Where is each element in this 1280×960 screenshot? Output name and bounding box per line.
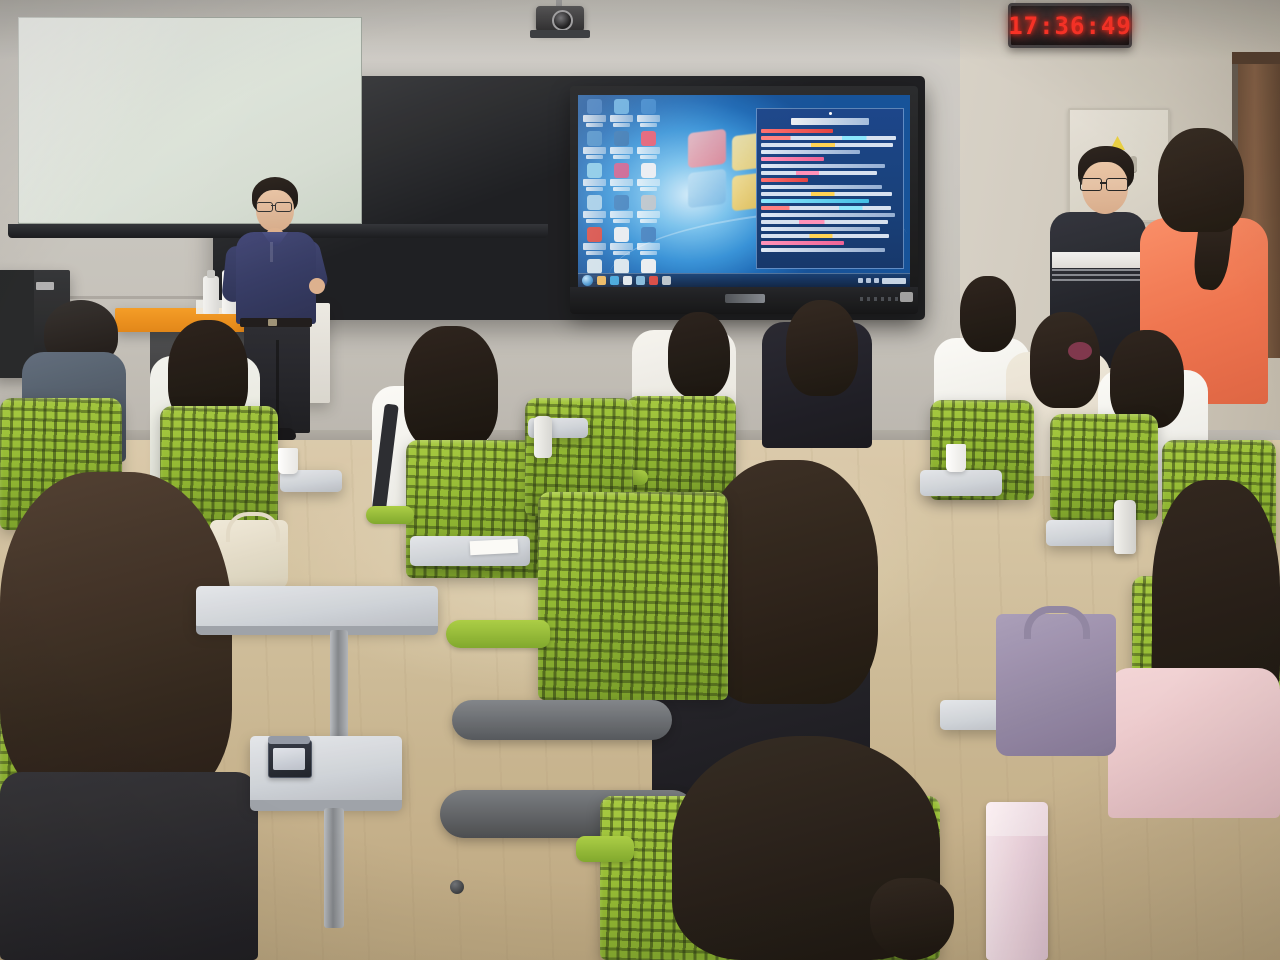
icon-label-line2 <box>586 251 603 255</box>
chat-icon[interactable] <box>636 163 661 193</box>
chat-icon-glyph <box>641 163 656 178</box>
attendee-right-pink <box>1108 668 1280 818</box>
icon-label-line2 <box>640 123 657 127</box>
taskbar-mail-icon[interactable] <box>636 276 645 285</box>
document-icon-glyph <box>587 131 602 146</box>
tray-volume-icon[interactable] <box>866 278 871 283</box>
camera-lens-icon <box>552 10 573 31</box>
editor-icon[interactable] <box>636 227 661 257</box>
cloud-icon-glyph <box>614 99 629 114</box>
eyeglasses-icon <box>256 202 294 210</box>
attendee-hair <box>668 312 730 398</box>
note-icon-glyph <box>641 259 656 274</box>
tray-network-icon[interactable] <box>858 278 863 283</box>
icon-label-line2 <box>613 219 630 223</box>
paper-cup <box>278 448 298 474</box>
attendee-hair <box>1030 312 1100 408</box>
taskbar-player-icon[interactable] <box>623 276 632 285</box>
icon-label-line2 <box>640 187 657 191</box>
display-screen[interactable] <box>578 95 910 287</box>
display-power-button[interactable] <box>900 292 913 302</box>
ponytail <box>870 878 954 960</box>
desk-support-post <box>330 630 348 748</box>
editor-icon-glyph <box>641 227 656 242</box>
led-wall-clock: 17:36:49 <box>1008 3 1132 48</box>
handbag-handle <box>226 512 280 542</box>
badge-card <box>273 748 305 770</box>
display-brand-logo <box>725 294 765 303</box>
icon-label <box>637 211 660 218</box>
music-icon-glyph <box>641 131 656 146</box>
icon-label <box>610 211 633 218</box>
attendee-foreground-left-top <box>0 772 258 960</box>
tablet-desk[interactable] <box>196 586 438 630</box>
network-icon[interactable] <box>582 163 607 193</box>
browser-icon[interactable] <box>582 99 607 129</box>
icon-label <box>637 147 660 154</box>
antivirus-icon-glyph <box>614 131 629 146</box>
icon-label <box>637 115 660 122</box>
folder-icon-glyph <box>587 195 602 210</box>
icon-label-line2 <box>586 155 603 159</box>
sweatshirt-pattern <box>1052 268 1142 281</box>
recycle-icon-glyph <box>614 259 629 274</box>
icon-label <box>610 179 633 186</box>
icon-label <box>610 147 633 154</box>
icon-label <box>637 243 660 250</box>
desktop-icon-grid[interactable] <box>582 99 662 287</box>
thermos-cap <box>986 802 1048 836</box>
paper-cup <box>946 444 966 472</box>
hair-scrunchie <box>1068 342 1092 360</box>
icon-label-line2 <box>586 219 603 223</box>
folder-icon[interactable] <box>582 195 607 225</box>
cloudsync-icon-glyph <box>587 259 602 274</box>
sweatshirt-white-stripe <box>1052 252 1142 268</box>
tray-clock[interactable] <box>882 278 906 284</box>
belt-buckle <box>268 319 277 326</box>
clock-time-text: 17:36:49 <box>1008 12 1132 40</box>
bottle-cap <box>207 270 215 278</box>
wifi-icon-glyph <box>614 163 629 178</box>
camera-base <box>530 30 590 38</box>
icon-label-line2 <box>613 187 630 191</box>
pdf-icon-glyph <box>587 227 602 242</box>
network-icon-glyph <box>587 163 602 178</box>
icon-label-line2 <box>613 251 630 255</box>
media-icon[interactable] <box>636 99 661 129</box>
backpack-handle <box>1024 606 1090 639</box>
archive-icon[interactable] <box>636 195 661 225</box>
whiteboard-glare <box>18 17 360 222</box>
user-icon-glyph <box>614 195 629 210</box>
badge-clip <box>268 736 310 744</box>
attendee-hair <box>960 276 1016 352</box>
taskbar-explorer-icon[interactable] <box>597 276 606 285</box>
display-control-keys[interactable] <box>860 297 898 301</box>
start-orb-icon[interactable] <box>582 275 593 286</box>
standing-woman-hair <box>1158 128 1244 232</box>
media-icon-glyph <box>641 99 656 114</box>
pdf-icon[interactable] <box>582 227 607 257</box>
door-header <box>1232 52 1280 64</box>
attendee-hair <box>786 300 858 396</box>
icon-label <box>637 179 660 186</box>
desk-edge <box>196 626 438 635</box>
browser-icon-glyph <box>587 99 602 114</box>
user-icon[interactable] <box>609 195 634 225</box>
system-tray[interactable] <box>858 278 906 284</box>
cabinet-label <box>36 282 54 290</box>
eyeglasses-icon <box>1080 178 1130 189</box>
icon-label <box>610 243 633 250</box>
antivirus-icon[interactable] <box>609 131 634 161</box>
music-icon[interactable] <box>636 131 661 161</box>
presenter-hand <box>309 278 325 294</box>
taskbar-pdf-icon[interactable] <box>649 276 658 285</box>
icon-label <box>583 147 606 154</box>
text-window-title <box>791 118 869 125</box>
sanitizer-bottle <box>203 276 219 314</box>
icon-label <box>583 243 606 250</box>
wifi-icon[interactable] <box>609 163 634 193</box>
presenter-placket <box>270 242 273 262</box>
taskbar-browser-icon[interactable] <box>610 276 619 285</box>
disc-icon-glyph <box>614 227 629 242</box>
icon-label <box>583 115 606 122</box>
attendee-hair <box>404 326 498 450</box>
icon-label <box>583 179 606 186</box>
taskbar-note-icon[interactable] <box>662 276 671 285</box>
icon-label-line2 <box>640 219 657 223</box>
icon-label-line2 <box>640 155 657 159</box>
window-bullet <box>829 112 832 115</box>
icon-label-line2 <box>613 123 630 127</box>
icon-label-line2 <box>586 187 603 191</box>
disc-icon[interactable] <box>609 227 634 257</box>
icon-label-line2 <box>640 251 657 255</box>
presentation-text-window[interactable] <box>756 108 904 269</box>
archive-icon-glyph <box>641 195 656 210</box>
classroom-scene: 17:36:49 <box>0 0 1280 960</box>
tray-ime-icon[interactable] <box>874 278 879 283</box>
icon-label-line2 <box>586 123 603 127</box>
document-icon[interactable] <box>582 131 607 161</box>
icon-label <box>583 211 606 218</box>
desk-support-post <box>324 808 344 928</box>
metal-thermos <box>1114 500 1136 554</box>
metal-thermos <box>534 416 552 458</box>
icon-label <box>610 115 633 122</box>
icon-label-line2 <box>613 155 630 159</box>
cloud-icon[interactable] <box>609 99 634 129</box>
windows-taskbar[interactable] <box>578 273 910 287</box>
attendee-foreground-left-hair <box>0 472 232 802</box>
tablet-desk[interactable] <box>920 470 1002 496</box>
printed-handout <box>470 539 519 555</box>
